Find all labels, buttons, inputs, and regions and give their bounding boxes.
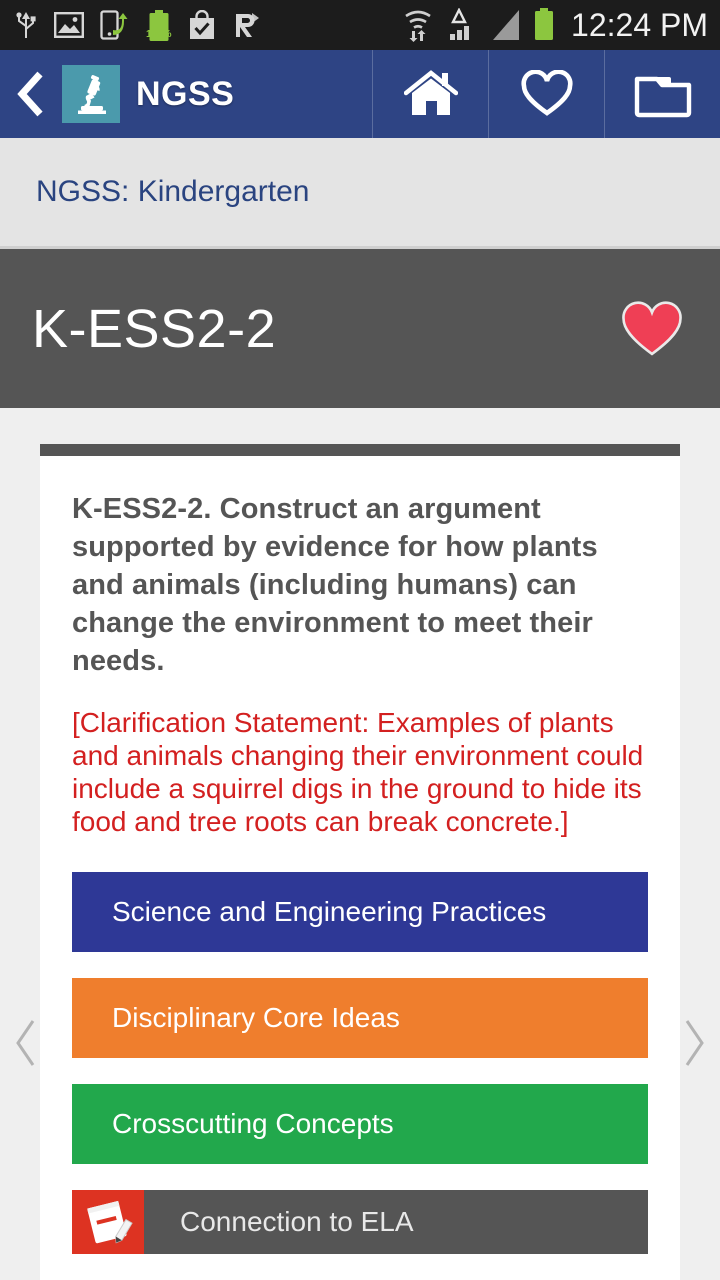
app-bar-actions [372, 50, 720, 138]
signal-bars-icon [489, 8, 523, 42]
usb-transfer-icon [100, 10, 130, 40]
android-status-bar: 100% [0, 0, 720, 50]
heart-outline-icon [520, 70, 574, 118]
favorite-toggle[interactable] [620, 297, 684, 361]
page-title: K-ESS2-2 [32, 298, 276, 360]
battery-percent-label: 100% [146, 29, 172, 40]
connection-label: Connection to ELA [180, 1206, 414, 1238]
battery-charging-icon: 100% [146, 10, 172, 40]
chevron-left-icon [13, 1018, 39, 1068]
favorites-button[interactable] [488, 50, 604, 138]
screenshot-image-icon [54, 12, 84, 38]
status-bar-left-icons: 100% [14, 10, 262, 40]
notepad-pencil-icon [72, 1190, 144, 1254]
clarification-statement: [Clarification Statement: Examples of pl… [72, 706, 648, 838]
signal-roaming-icon [443, 8, 479, 42]
next-standard-button[interactable] [674, 1008, 714, 1078]
dimension-button-disciplinary-core-ideas[interactable]: Disciplinary Core Ideas [72, 978, 648, 1058]
app-bar: NGSS [0, 50, 720, 138]
home-icon [404, 69, 458, 119]
breadcrumb-link-kindergarten[interactable]: NGSS: Kindergarten [36, 175, 309, 209]
breadcrumb: NGSS: Kindergarten [0, 138, 720, 246]
folders-button[interactable] [604, 50, 720, 138]
app-logo [62, 65, 120, 123]
standard-title-bar: K-ESS2-2 [0, 246, 720, 408]
dimension-label: Disciplinary Core Ideas [112, 1002, 400, 1034]
home-button[interactable] [372, 50, 488, 138]
folder-icon [634, 70, 692, 118]
app-title: NGSS [136, 75, 372, 114]
dimension-label: Crosscutting Concepts [112, 1108, 394, 1140]
back-button[interactable] [0, 50, 62, 138]
connection-row-ela[interactable]: Connection to ELA [72, 1190, 648, 1254]
dimension-buttons: Science and Engineering Practices Discip… [72, 872, 648, 1254]
dimension-button-crosscutting-concepts[interactable]: Crosscutting Concepts [72, 1084, 648, 1164]
app-r-icon [232, 10, 262, 40]
wifi-data-transfer-icon [403, 8, 433, 42]
standard-card: K-ESS2-2. Construct an argument supporte… [40, 444, 680, 1280]
standard-detail-content: K-ESS2-2. Construct an argument supporte… [0, 408, 720, 1280]
status-bar-clock: 12:24 PM [571, 7, 708, 44]
status-bar-right-icons: 12:24 PM [403, 0, 708, 50]
dimension-button-science-and-engineering-practices[interactable]: Science and Engineering Practices [72, 872, 648, 952]
heart-filled-icon [620, 297, 684, 361]
card-top-accent [40, 444, 680, 456]
chevron-right-icon [681, 1018, 707, 1068]
battery-icon [533, 8, 555, 42]
microscope-icon [69, 72, 113, 116]
standard-statement: K-ESS2-2. Construct an argument supporte… [72, 490, 648, 680]
back-chevron-icon [16, 71, 46, 117]
play-store-bag-icon [188, 10, 216, 40]
usb-icon [14, 10, 38, 40]
dimension-label: Science and Engineering Practices [112, 896, 546, 928]
